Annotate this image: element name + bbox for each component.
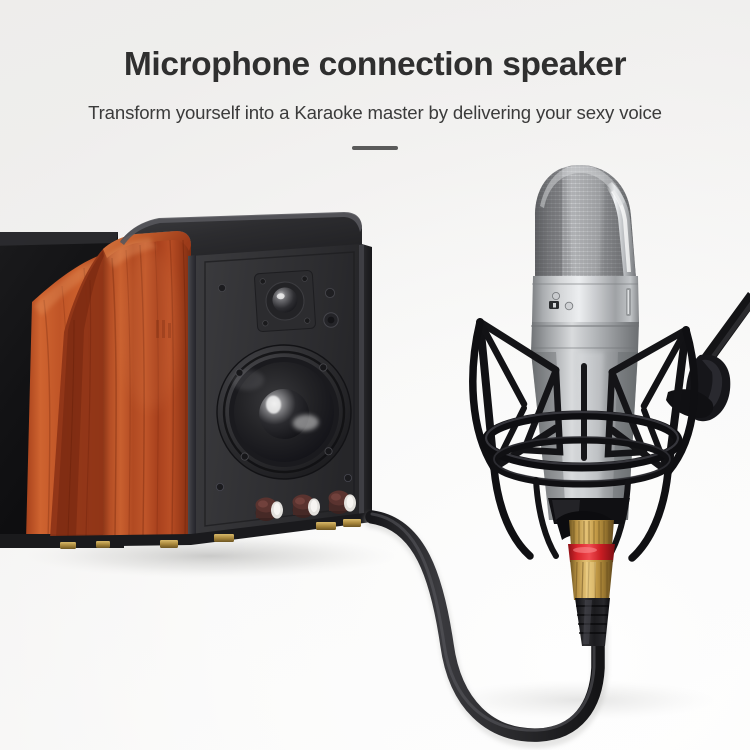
baffle-screw-lower-left <box>216 483 223 490</box>
woofer-screw-tl <box>236 369 244 377</box>
mic-indicator-dot-1 <box>552 292 559 299</box>
tweeter-screw-tr <box>302 276 308 282</box>
leg-right <box>632 472 668 558</box>
foot-1 <box>60 542 76 549</box>
tweeter-screw-bl <box>262 320 268 326</box>
tweeter-screw-br <box>304 318 310 324</box>
xlr-connector <box>568 520 615 646</box>
foot-2 <box>96 541 110 548</box>
port-screw-upper <box>325 288 334 297</box>
tweeter-screw-tl <box>260 278 266 284</box>
product-photo: TREBLE BASS <box>0 0 750 750</box>
baffle-screw-lower-right <box>344 474 351 481</box>
foot-4 <box>214 534 234 542</box>
xlr-red-ring <box>568 544 615 562</box>
speaker-baffle-left-edge <box>188 255 196 537</box>
mic-side-slot-glint <box>628 290 630 314</box>
mic-indicator-dot-2 <box>565 302 573 310</box>
mic-body-upper <box>532 276 639 322</box>
foot-5 <box>316 522 336 530</box>
mic-grille-highlight <box>566 168 604 276</box>
speaker-right-edge-light <box>359 245 364 517</box>
mic-pattern-switch-lever[interactable] <box>553 303 556 308</box>
speaker: TREBLE BASS <box>48 212 372 549</box>
foot-6 <box>343 519 361 527</box>
woofer-screw-br <box>325 447 333 455</box>
xlr-barrel-highlight <box>586 562 596 598</box>
banner-canvas: Microphone connection speaker Transform … <box>0 0 750 750</box>
xlr-red-ring-glint <box>573 547 597 553</box>
woofer-screw-bl <box>241 453 249 461</box>
foot-3 <box>160 540 178 548</box>
port-screw-lower-inner <box>328 317 335 324</box>
woofer-screw-tr <box>319 364 327 372</box>
baffle-screw-upper-left <box>218 284 225 291</box>
xlr-upper-barrel <box>569 520 614 546</box>
